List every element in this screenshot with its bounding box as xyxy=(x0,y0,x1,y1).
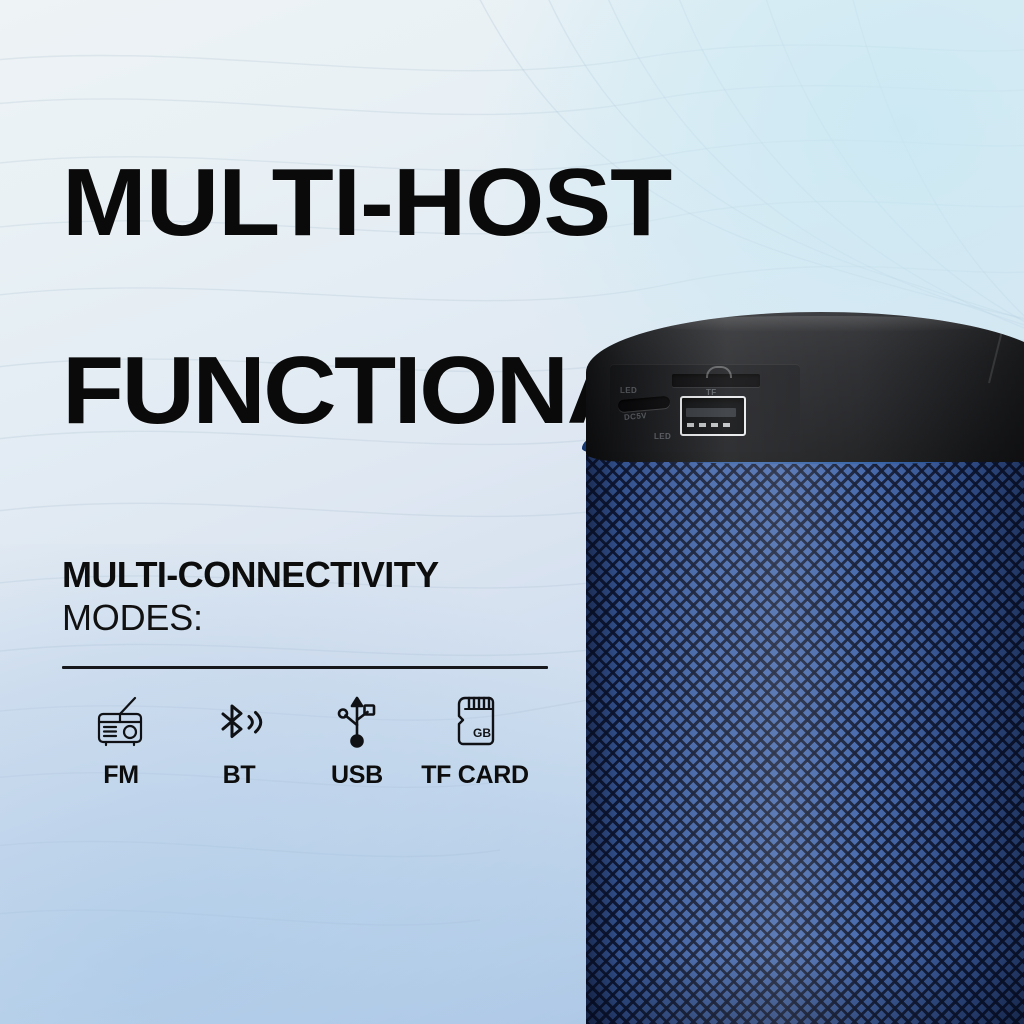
connectivity-feature-block: MULTI-CONNECTIVITY MODES: xyxy=(62,556,562,790)
headline-line-1: MULTI-HOST xyxy=(62,156,1016,250)
sd-card-icon: GB xyxy=(451,693,499,751)
bluetooth-icon xyxy=(214,693,264,751)
mode-label-bt: BT xyxy=(223,761,256,790)
radio-icon xyxy=(94,693,148,751)
sd-card-capacity-text: GB xyxy=(473,726,491,740)
product-marketing-image: MULTI-HOST FUNCTIONALITY LED TF xyxy=(0,0,1024,1024)
speaker-top-cap: LED TF DC5V LED xyxy=(586,312,1024,462)
mode-item-bt: BT xyxy=(180,693,298,790)
mode-label-fm: FM xyxy=(103,761,139,790)
feature-title: MULTI-CONNECTIVITY xyxy=(62,556,562,594)
feature-subtitle: MODES: xyxy=(62,598,562,638)
connectivity-modes-row: FM BT xyxy=(62,693,562,790)
product-image-speaker: LED TF DC5V LED xyxy=(586,312,1024,1024)
mode-item-tf-card: GB TF CARD xyxy=(416,693,534,790)
mode-label-tf-card: TF CARD xyxy=(421,761,529,790)
mode-label-usb: USB xyxy=(331,761,383,790)
usb-icon xyxy=(335,693,379,751)
speaker-cylinder-shading xyxy=(586,422,1024,1024)
speaker-cap-shading xyxy=(586,312,1024,462)
section-divider xyxy=(62,666,548,669)
mode-item-fm: FM xyxy=(62,693,180,790)
mode-item-usb: USB xyxy=(298,693,416,790)
speaker-grille-body xyxy=(586,422,1024,1024)
